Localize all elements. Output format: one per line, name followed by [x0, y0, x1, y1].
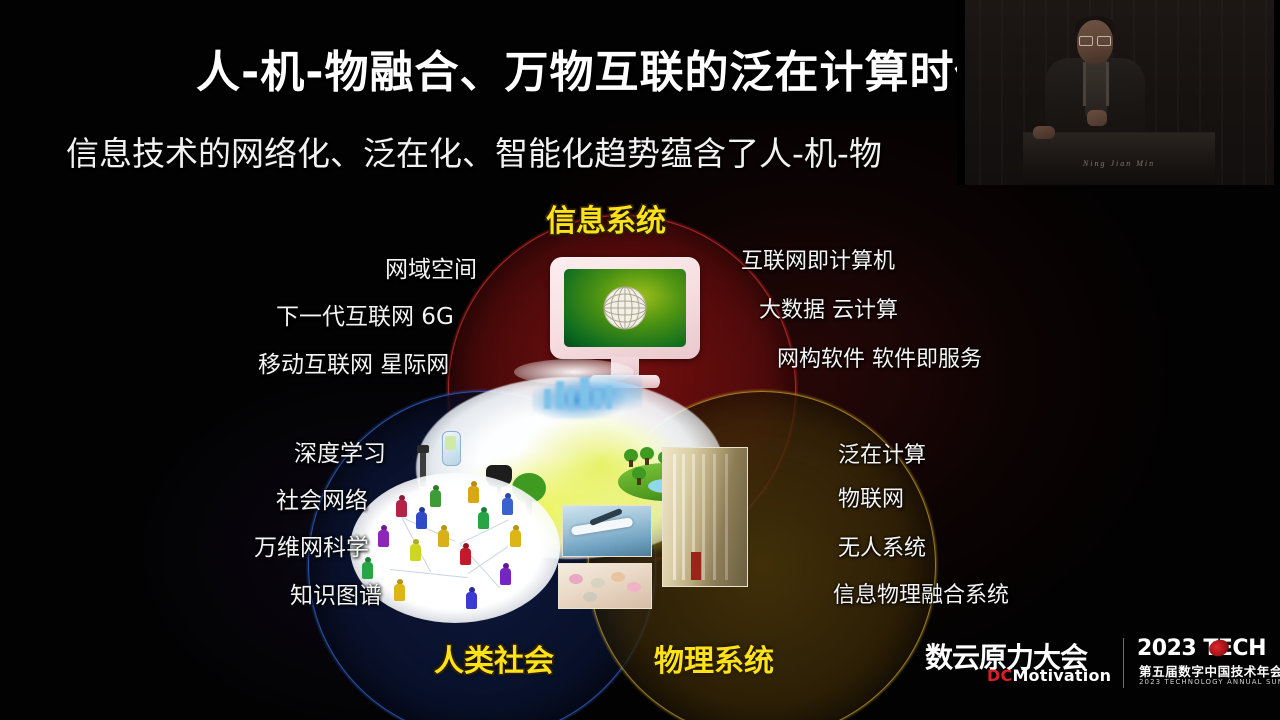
speaker-hand-left — [1033, 126, 1055, 139]
person-icon — [510, 525, 521, 547]
logo-motivation-suffix: Motivation — [1012, 666, 1111, 685]
monitor-screen — [564, 269, 686, 347]
mobile-phone-icon — [442, 431, 461, 466]
dc-motivation-logo: 数云原力大会 DCMotivation — [925, 636, 1115, 692]
person-icon — [430, 485, 441, 507]
keyword-label: 无人系统 — [838, 530, 926, 562]
person-icon — [468, 481, 479, 503]
keyword-label: 泛在计算 — [838, 437, 926, 469]
venn-caption-human-society: 人类社会 — [434, 636, 554, 680]
blue-city-cluster — [532, 373, 642, 419]
speaker-hand-right — [1087, 110, 1107, 126]
person-icon — [438, 525, 449, 547]
summit-english-name: 2023 TECHNOLOGY ANNUAL SUMMIT — [1139, 678, 1280, 686]
tree-icon — [632, 467, 646, 485]
person-icon — [460, 543, 471, 565]
speaker-lanyard — [1083, 62, 1109, 106]
video-left-bar — [957, 0, 965, 185]
keyword-label: 知识图谱 — [290, 576, 382, 610]
video-right-bar — [1274, 0, 1280, 185]
keyword-label: 互联网即计算机 — [741, 243, 895, 275]
slide-subtitle: 信息技术的网络化、泛在化、智能化趋势蕴含了人-机-物 — [66, 127, 882, 175]
venn-caption-physical-system: 物理系统 — [654, 636, 774, 680]
airplane-photo — [562, 505, 652, 557]
person-icon — [478, 507, 489, 529]
person-icon — [410, 539, 421, 561]
person-icon — [396, 495, 407, 517]
person-icon — [378, 525, 389, 547]
globe-icon — [601, 284, 649, 332]
logo-english-name: DCMotivation — [987, 666, 1111, 685]
podium-nameplate: Ning Jian Min — [1023, 159, 1215, 168]
keyword-label: 信息物理融合系统 — [833, 577, 1009, 609]
logo-dc-prefix: DC — [987, 666, 1012, 685]
keyword-label: 大数据 云计算 — [759, 292, 898, 324]
tree-icon — [624, 449, 638, 467]
keyword-label: 网构软件 软件即服务 — [777, 341, 982, 373]
person-icon — [466, 587, 477, 609]
keyword-label: 社会网络 — [276, 481, 368, 515]
tech-summit-logo: 2023 TECH 第五届数字中国技术年会 2023 TECHNOLOGY AN… — [1137, 634, 1267, 694]
biology-photo — [558, 563, 652, 609]
person-icon — [416, 507, 427, 529]
presentation-slide: 人-机-物融合、万物互联的泛在计算时代 信息技术的网络化、泛在化、智能化趋势蕴含… — [0, 0, 1280, 720]
keyword-label: 移动互联网 星际网 — [258, 345, 449, 379]
person-icon — [394, 579, 405, 601]
summit-year-title: 2023 TECH — [1137, 636, 1266, 661]
skyscraper-photo — [662, 447, 748, 587]
keyword-label: 万维网科学 — [254, 528, 369, 562]
keyword-label: 下一代互联网 6G — [276, 297, 454, 331]
keyword-label: 网域空间 — [385, 250, 477, 284]
person-icon — [502, 493, 513, 515]
logo-divider — [1123, 638, 1124, 688]
monitor-bezel — [550, 257, 700, 359]
slide-title: 人-机-物融合、万物互联的泛在计算时代 — [196, 36, 1000, 100]
conference-logos: 数云原力大会 DCMotivation 2023 TECH 第五届数字中国技术年… — [925, 634, 1275, 696]
person-icon — [500, 563, 511, 585]
speaker-camera-feed[interactable]: Ning Jian Min — [957, 0, 1280, 185]
tree-icon — [640, 447, 654, 465]
glasses-icon — [1079, 36, 1111, 44]
keyword-label: 物联网 — [838, 481, 904, 513]
podium: Ning Jian Min — [1023, 132, 1215, 185]
venn-caption-information-system: 信息系统 — [546, 196, 666, 240]
keyword-label: 深度学习 — [294, 434, 386, 468]
